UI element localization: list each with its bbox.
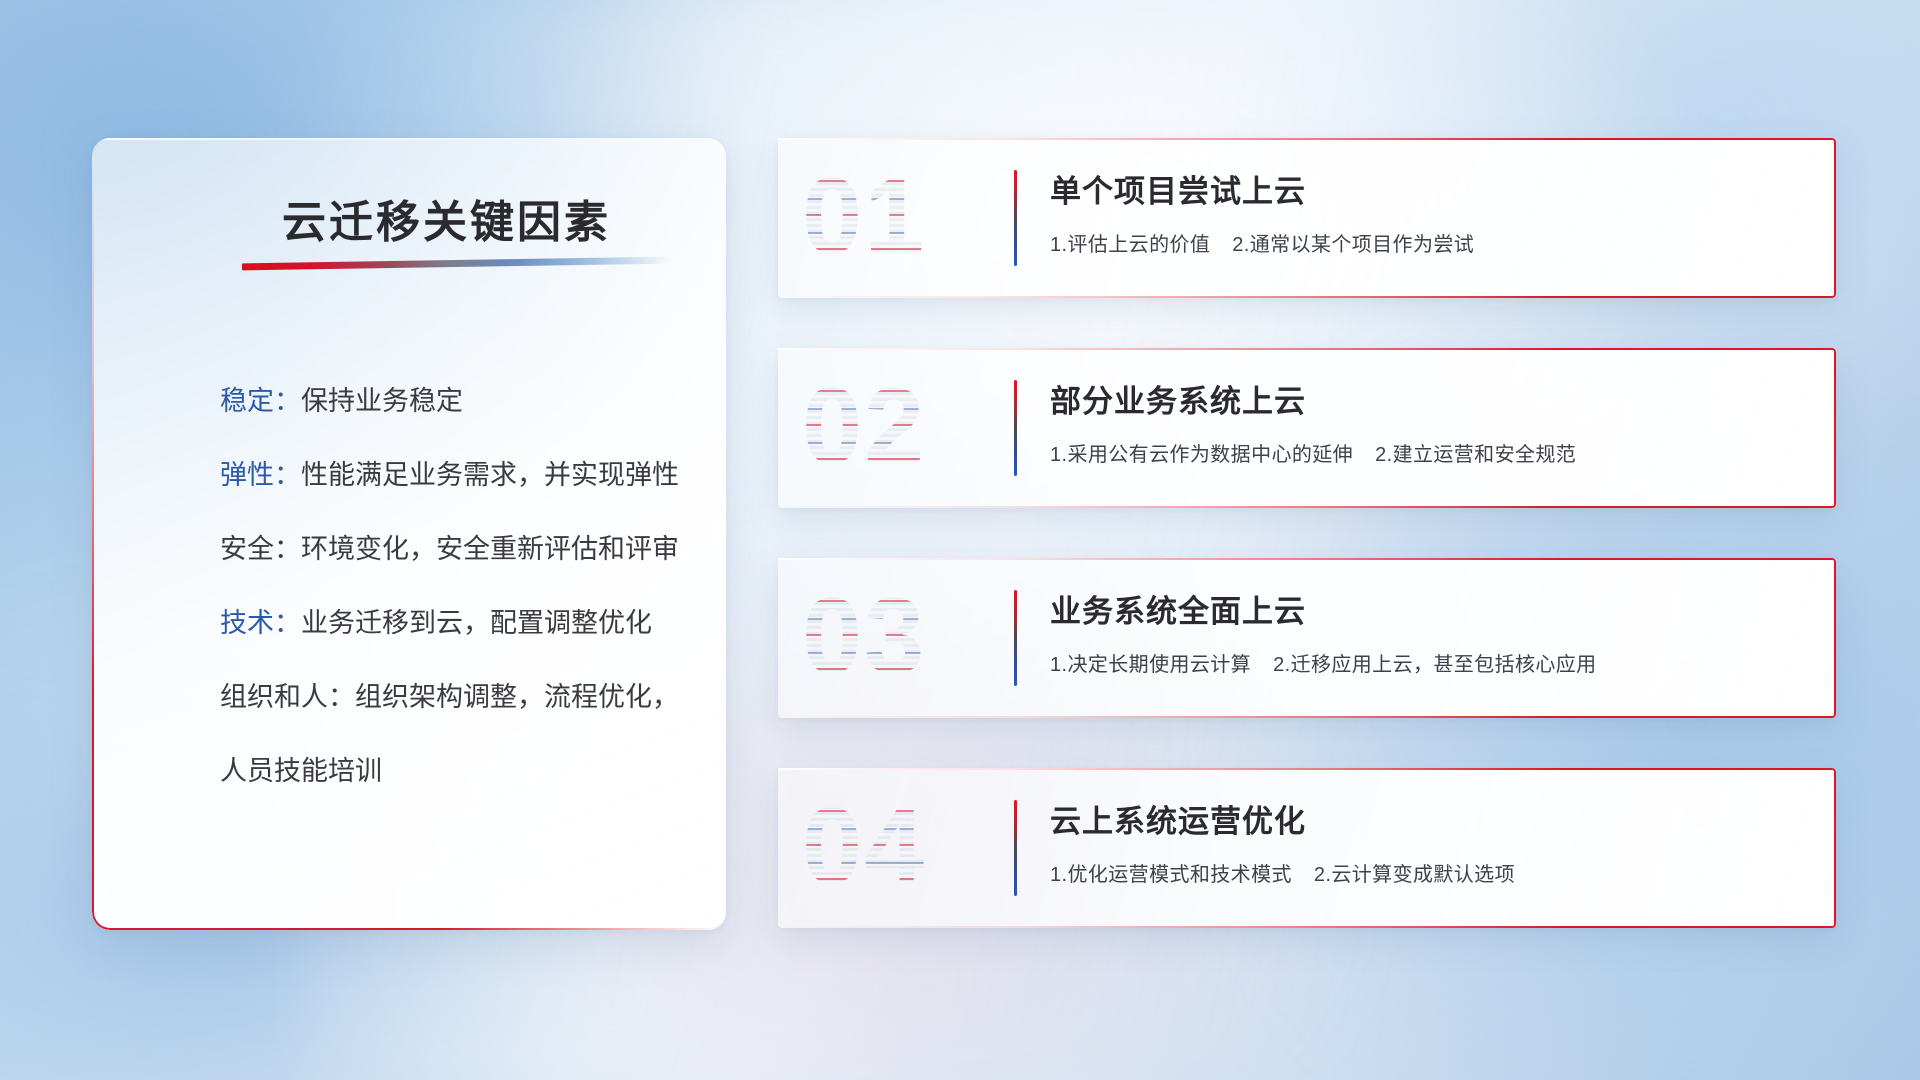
card-top-highlight: [778, 558, 1836, 560]
step-accent-bar: [1014, 800, 1017, 896]
step-desc-part-2: 2.通常以某个项目作为尝试: [1232, 234, 1474, 256]
factor-key: 技术：: [220, 608, 301, 638]
list-item-continuation: 人员技能培训: [220, 734, 690, 808]
factor-text: 组织架构调整，流程优化，: [355, 682, 679, 712]
card-top-highlight: [778, 138, 1836, 140]
list-item: 技术：业务迁移到云，配置调整优化: [220, 586, 690, 660]
factor-text: 保持业务稳定: [301, 386, 463, 416]
factor-key: 稳定：: [220, 386, 301, 416]
step-card[interactable]: 03 03 03 业务系统全面上云 1.决定长期使用云计算2.迁移应用上云，甚至…: [778, 558, 1836, 718]
step-desc-part-1: 1.优化运营模式和技术模式: [1050, 864, 1292, 886]
step-accent-bar: [1014, 380, 1017, 476]
step-desc-part-1: 1.采用公有云作为数据中心的延伸: [1050, 444, 1353, 466]
step-number: 02: [802, 356, 982, 496]
step-description: 1.采用公有云作为数据中心的延伸2.建立运营和安全规范: [1050, 438, 1576, 467]
list-item: 组织和人：组织架构调整，流程优化，: [220, 660, 690, 734]
step-desc-part-2: 2.建立运营和安全规范: [1375, 444, 1576, 466]
card-top-highlight: [778, 768, 1836, 770]
factor-key: 弹性：: [220, 460, 301, 490]
factor-key: 组织和人：: [220, 682, 355, 712]
list-item: 安全：环境变化，安全重新评估和评审: [220, 512, 690, 586]
factor-key: 安全：: [220, 534, 301, 564]
list-item: 弹性：性能满足业务需求，并实现弹性: [220, 438, 690, 512]
key-factors-card: 云迁移关键因素 稳定：保持业务稳定 弹性：性能满足业务需求，并实现弹性 安全：环…: [92, 138, 726, 930]
step-desc-part-1: 1.决定长期使用云计算: [1050, 654, 1251, 676]
step-accent-bar: [1014, 170, 1017, 266]
step-number: 01: [802, 146, 982, 286]
step-title: 云上系统运营优化: [1050, 796, 1306, 841]
step-card[interactable]: 04 04 04 云上系统运营优化 1.优化运营模式和技术模式2.云计算变成默认…: [778, 768, 1836, 928]
list-item: 稳定：保持业务稳定: [220, 364, 690, 438]
step-number: 04: [802, 776, 982, 916]
factor-text: 性能满足业务需求，并实现弹性: [301, 460, 679, 490]
step-desc-part-2: 2.迁移应用上云，甚至包括核心应用: [1273, 654, 1596, 676]
step-description: 1.决定长期使用云计算2.迁移应用上云，甚至包括核心应用: [1050, 648, 1597, 677]
card-top-highlight: [92, 138, 726, 140]
step-title: 单个项目尝试上云: [1050, 166, 1306, 211]
factor-text: 业务迁移到云，配置调整优化: [301, 608, 652, 638]
step-card[interactable]: 01 01 01 单个项目尝试上云 1.评估上云的价值2.通常以某个项目作为尝试: [778, 138, 1836, 298]
step-title: 业务系统全面上云: [1050, 586, 1306, 631]
step-desc-part-1: 1.评估上云的价值: [1050, 234, 1210, 256]
step-accent-bar: [1014, 590, 1017, 686]
migration-steps-list: 01 01 01 单个项目尝试上云 1.评估上云的价值2.通常以某个项目作为尝试…: [778, 138, 1836, 928]
step-description: 1.评估上云的价值2.通常以某个项目作为尝试: [1050, 228, 1474, 257]
step-description: 1.优化运营模式和技术模式2.云计算变成默认选项: [1050, 858, 1515, 887]
title-gradient-divider: [242, 257, 672, 271]
step-desc-part-2: 2.云计算变成默认选项: [1314, 864, 1515, 886]
factor-text: 环境变化，安全重新评估和评审: [301, 534, 679, 564]
card-top-highlight: [778, 348, 1836, 350]
step-card[interactable]: 02 02 02 部分业务系统上云 1.采用公有云作为数据中心的延伸2.建立运营…: [778, 348, 1836, 508]
page-title: 云迁移关键因素: [282, 186, 611, 250]
step-title: 部分业务系统上云: [1050, 376, 1306, 421]
key-factors-list: 稳定：保持业务稳定 弹性：性能满足业务需求，并实现弹性 安全：环境变化，安全重新…: [220, 364, 690, 808]
step-number: 03: [802, 566, 982, 706]
